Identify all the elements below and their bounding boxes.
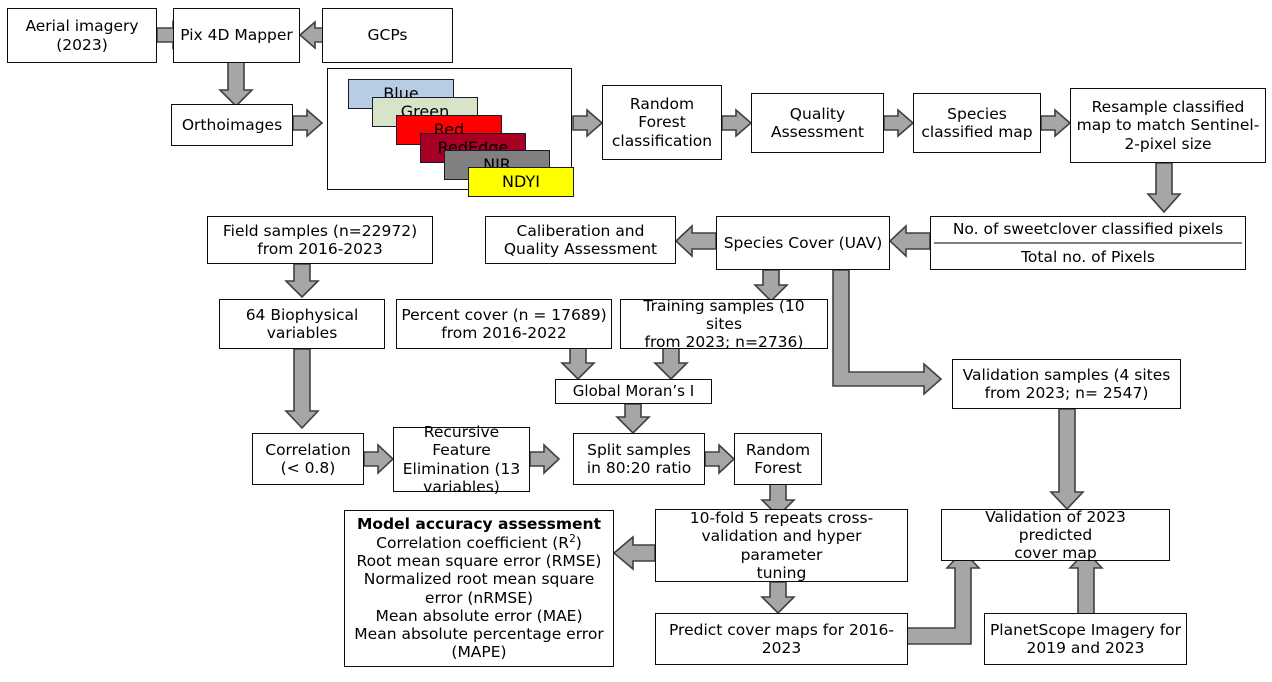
arrow-orthoimages-to-bands bbox=[293, 110, 322, 136]
node-random-forest-label: Random Forest bbox=[739, 441, 817, 478]
accuracy-title: Model accuracy assessment bbox=[357, 515, 601, 533]
band-stack-panel: Blue Green Red RedEdge NIR NDYI bbox=[327, 68, 572, 190]
arrow-validsamples-to-validation2023 bbox=[1051, 409, 1083, 509]
node-64-biophysical-variables-label: 64 Biophysical variables bbox=[224, 306, 380, 343]
accuracy-line-6: (MAPE) bbox=[451, 643, 506, 661]
node-field-samples[interactable]: Field samples (n=22972) from 2016-2023 bbox=[207, 216, 433, 264]
node-pix4d-mapper-label: Pix 4D Mapper bbox=[178, 26, 295, 44]
node-64-biophysical-variables[interactable]: 64 Biophysical variables bbox=[219, 299, 385, 349]
node-global-morans-i-label: Global Moran’s I bbox=[560, 383, 707, 401]
node-orthoimages[interactable]: Orthoimages bbox=[171, 104, 293, 146]
node-pix4d-mapper[interactable]: Pix 4D Mapper bbox=[173, 8, 300, 63]
node-planetscope-imagery[interactable]: PlanetScope Imagery for 2019 and 2023 bbox=[984, 613, 1187, 665]
node-aerial-imagery[interactable]: Aerial imagery (2023) bbox=[7, 8, 157, 63]
node-cross-validation[interactable]: 10-fold 5 repeats cross- validation and … bbox=[655, 509, 908, 582]
accuracy-line-2: Normalized root mean square bbox=[364, 570, 595, 588]
node-global-morans-i[interactable]: Global Moran’s I bbox=[555, 379, 712, 404]
node-aerial-imagery-label: Aerial imagery (2023) bbox=[12, 17, 152, 54]
band-ndyi: NDYI bbox=[468, 167, 574, 197]
arrow-training-to-morans bbox=[655, 348, 687, 379]
arrow-correlation-to-rfe bbox=[364, 445, 393, 473]
node-predict-cover-maps-label: Predict cover maps for 2016- 2023 bbox=[660, 621, 903, 658]
arrow-rfe-to-split bbox=[530, 445, 559, 473]
arrow-pix4d-to-orthoimages bbox=[220, 62, 252, 106]
node-planetscope-imagery-label: PlanetScope Imagery for 2019 and 2023 bbox=[989, 621, 1182, 658]
arrow-bands-to-rf-classification bbox=[573, 110, 602, 136]
node-quality-assessment[interactable]: Quality Assessment bbox=[751, 93, 884, 153]
node-caliberation-quality-assessment-label: Caliberation and Quality Assessment bbox=[490, 222, 671, 259]
node-pixel-ratio-numerator: No. of sweetclover classified pixels bbox=[931, 217, 1245, 242]
arrow-field-to-biophysical bbox=[286, 264, 318, 297]
node-gcps-label: GCPs bbox=[327, 26, 448, 44]
node-species-cover-uav[interactable]: Species Cover (UAV) bbox=[716, 216, 890, 270]
node-validation-samples-label: Validation samples (4 sites from 2023; n… bbox=[957, 366, 1176, 403]
arrow-split-to-rf bbox=[705, 445, 734, 473]
node-split-samples[interactable]: Split samples in 80:20 ratio bbox=[573, 433, 705, 485]
arrow-species-map-to-resample bbox=[1041, 110, 1070, 136]
workflow-diagram: Aerial imagery (2023) Pix 4D Mapper GCPs… bbox=[0, 0, 1272, 682]
arrow-species-cover-to-caliberation bbox=[676, 226, 716, 256]
node-random-forest-classification-label: Random Forest classification bbox=[607, 95, 717, 150]
accuracy-line-5: Mean absolute percentage error bbox=[354, 625, 603, 643]
arrow-species-cover-to-validation bbox=[833, 270, 941, 394]
node-pixel-ratio-denominator: Total no. of Pixels bbox=[931, 244, 1245, 269]
accuracy-line-3: error (nRMSE) bbox=[425, 589, 533, 607]
accuracy-line-0: Correlation coefficient (R2) bbox=[376, 534, 582, 552]
node-model-accuracy-assessment[interactable]: Model accuracy assessment Correlation co… bbox=[344, 510, 614, 667]
node-quality-assessment-label: Quality Assessment bbox=[756, 105, 879, 142]
node-cross-validation-label: 10-fold 5 repeats cross- validation and … bbox=[660, 509, 903, 582]
node-orthoimages-label: Orthoimages bbox=[176, 116, 288, 134]
node-training-samples-label: Training samples (10 sites from 2023; n=… bbox=[625, 297, 823, 352]
node-percent-cover[interactable]: Percent cover (n = 17689) from 2016-2022 bbox=[396, 299, 612, 349]
node-resample-classified-map-label: Resample classified map to match Sentine… bbox=[1075, 98, 1261, 153]
arrow-qa-to-species-map bbox=[884, 110, 913, 136]
accuracy-line-4: Mean absolute error (MAE) bbox=[375, 607, 582, 625]
node-percent-cover-label: Percent cover (n = 17689) from 2016-2022 bbox=[401, 306, 607, 343]
arrow-crossval-to-predict bbox=[762, 582, 794, 613]
node-validation-samples[interactable]: Validation samples (4 sites from 2023; n… bbox=[952, 359, 1181, 409]
node-correlation-label: Correlation (< 0.8) bbox=[257, 441, 359, 478]
accuracy-line-1: Root mean square error (RMSE) bbox=[357, 552, 602, 570]
node-field-samples-label: Field samples (n=22972) from 2016-2023 bbox=[212, 222, 428, 259]
node-pixel-ratio[interactable]: No. of sweetclover classified pixels Tot… bbox=[930, 216, 1246, 270]
node-random-forest-classification[interactable]: Random Forest classification bbox=[602, 85, 722, 160]
arrow-resample-to-ratio bbox=[1148, 163, 1180, 212]
node-species-classified-map-label: Species classified map bbox=[918, 105, 1036, 142]
node-correlation[interactable]: Correlation (< 0.8) bbox=[252, 433, 364, 485]
node-species-cover-uav-label: Species Cover (UAV) bbox=[721, 234, 885, 252]
node-predict-cover-maps[interactable]: Predict cover maps for 2016- 2023 bbox=[655, 613, 908, 665]
arrow-biophysical-to-correlation bbox=[286, 349, 318, 428]
arrow-crossval-to-accuracy bbox=[614, 537, 655, 569]
node-caliberation-quality-assessment[interactable]: Caliberation and Quality Assessment bbox=[485, 216, 676, 264]
arrow-rfclass-to-qa bbox=[722, 110, 751, 136]
node-split-samples-label: Split samples in 80:20 ratio bbox=[578, 441, 700, 478]
node-resample-classified-map[interactable]: Resample classified map to match Sentine… bbox=[1070, 88, 1266, 163]
node-recursive-feature-elimination-label: Recursive Feature Elimination (13 variab… bbox=[398, 423, 525, 496]
band-ndyi-label: NDYI bbox=[502, 174, 540, 190]
node-gcps[interactable]: GCPs bbox=[322, 8, 453, 63]
arrow-predict-to-validation2023 bbox=[907, 551, 979, 644]
node-training-samples[interactable]: Training samples (10 sites from 2023; n=… bbox=[620, 299, 828, 349]
node-validation-of-2023-label: Validation of 2023 predicted cover map bbox=[946, 508, 1165, 563]
arrow-morans-to-split bbox=[617, 404, 649, 433]
node-validation-of-2023[interactable]: Validation of 2023 predicted cover map bbox=[941, 509, 1170, 561]
node-random-forest[interactable]: Random Forest bbox=[734, 433, 822, 485]
arrow-percent-to-morans bbox=[562, 348, 594, 379]
node-recursive-feature-elimination[interactable]: Recursive Feature Elimination (13 variab… bbox=[393, 427, 530, 492]
node-species-classified-map[interactable]: Species classified map bbox=[913, 93, 1041, 153]
arrow-ratio-to-species-cover bbox=[890, 226, 930, 256]
